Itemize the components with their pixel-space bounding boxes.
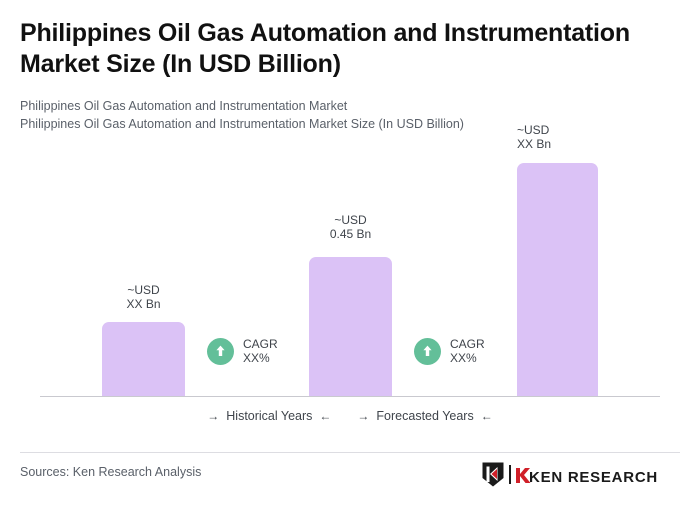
bar-2[interactable] — [309, 257, 392, 396]
bar-1[interactable] — [102, 322, 185, 396]
bar-3[interactable] — [517, 163, 598, 396]
arrow-up-icon — [414, 338, 441, 365]
bar-3-value-line-2: XX Bn — [517, 137, 598, 151]
logo-divider — [509, 465, 511, 484]
x-axis-baseline — [40, 396, 660, 397]
arrow-left-icon: ← — [481, 410, 493, 422]
chart-page: Philippines Oil Gas Automation and Instr… — [0, 0, 700, 520]
footer-divider — [20, 452, 680, 453]
bar-3-value-label: ~USD XX Bn — [517, 123, 598, 152]
bar-1-value-label: ~USD XX Bn — [102, 283, 185, 312]
cagr-badge-2-line-1: CAGR — [450, 337, 485, 351]
cagr-badge-1-line-1: CAGR — [243, 337, 278, 351]
bar-1-value-line-2: XX Bn — [102, 297, 185, 311]
cagr-badge-1-text: CAGR XX% — [243, 337, 278, 365]
bar-1-value-line-1: ~USD — [127, 283, 159, 297]
ken-research-wordmark: KEN RESEARCH — [515, 464, 685, 486]
historical-years-text: Historical Years — [226, 409, 312, 423]
sources-text: Sources: Ken Research Analysis — [20, 465, 201, 479]
arrow-right-icon: → — [207, 410, 219, 422]
period-labels-row: → Historical Years ← → Forecasted Years … — [40, 409, 660, 423]
forecasted-years-text: Forecasted Years — [376, 409, 473, 423]
arrow-left-icon: ← — [319, 410, 331, 422]
bar-3-value-line-1: ~USD — [517, 123, 549, 137]
ken-research-shield-icon — [481, 461, 505, 488]
bar-2-value-line-1: ~USD — [334, 213, 366, 227]
historical-years-label: → Historical Years ← — [207, 409, 331, 423]
ken-research-logo: KEN RESEARCH — [481, 461, 685, 488]
bar-2-value-label: ~USD 0.45 Bn — [309, 213, 392, 242]
bar-2-value-line-2: 0.45 Bn — [309, 227, 392, 241]
cagr-badge-2-line-2: XX% — [450, 351, 485, 365]
arrow-right-icon: → — [357, 410, 369, 422]
cagr-badge-2[interactable]: CAGR XX% — [414, 337, 485, 365]
arrow-up-icon — [207, 338, 234, 365]
cagr-badge-1-line-2: XX% — [243, 351, 278, 365]
cagr-badge-2-text: CAGR XX% — [450, 337, 485, 365]
logo-text: KEN RESEARCH — [529, 469, 658, 486]
cagr-badge-1[interactable]: CAGR XX% — [207, 337, 278, 365]
forecasted-years-label: → Forecasted Years ← — [357, 409, 492, 423]
chart-plot-area: ~USD XX Bn ~USD 0.45 Bn ~USD XX Bn CAGR … — [0, 0, 700, 520]
